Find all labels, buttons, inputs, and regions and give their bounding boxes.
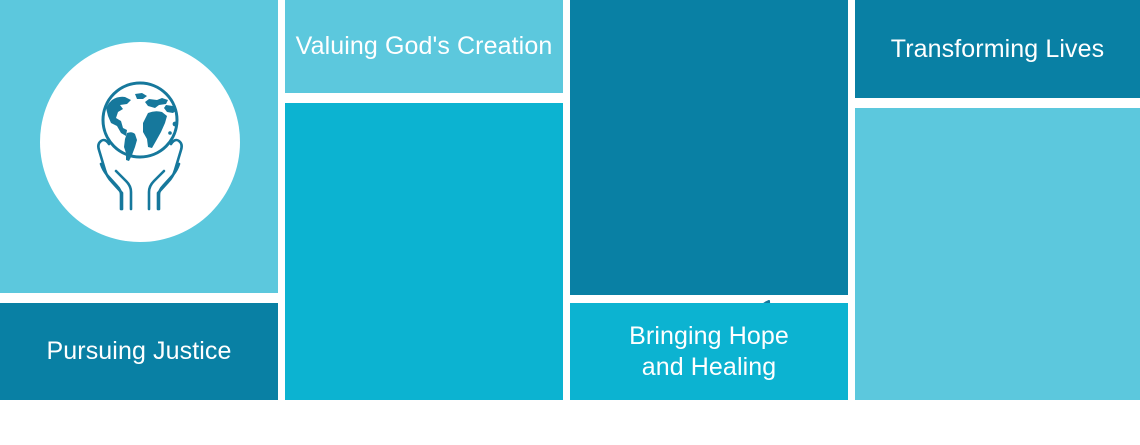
label-line: Pursuing Justice	[46, 336, 231, 367]
panel-transforming-lives-icon	[855, 108, 1140, 400]
label-line: and Healing	[629, 352, 789, 383]
panel-valuing-gods-creation-icon	[285, 103, 563, 400]
label-line: Transforming Lives	[891, 34, 1104, 65]
label-pursuing-justice: Pursuing Justice	[0, 303, 278, 400]
values-graphic: Pursuing Justice Valuing God's Creation	[0, 0, 1140, 400]
label-valuing-gods-creation: Valuing God's Creation	[285, 0, 563, 93]
label-transforming-lives: Transforming Lives	[855, 0, 1140, 98]
globe-in-hands-icon	[65, 67, 215, 217]
label-bringing-hope-and-healing: Bringing Hope and Healing	[570, 303, 848, 400]
panel-bringing-hope-and-healing-icon	[570, 0, 848, 295]
panel-pursuing-justice-icon	[0, 0, 278, 293]
label-line: Bringing Hope	[629, 321, 789, 352]
icon-circle-pursuing-justice	[40, 42, 240, 242]
label-line: Valuing God's Creation	[296, 31, 553, 62]
